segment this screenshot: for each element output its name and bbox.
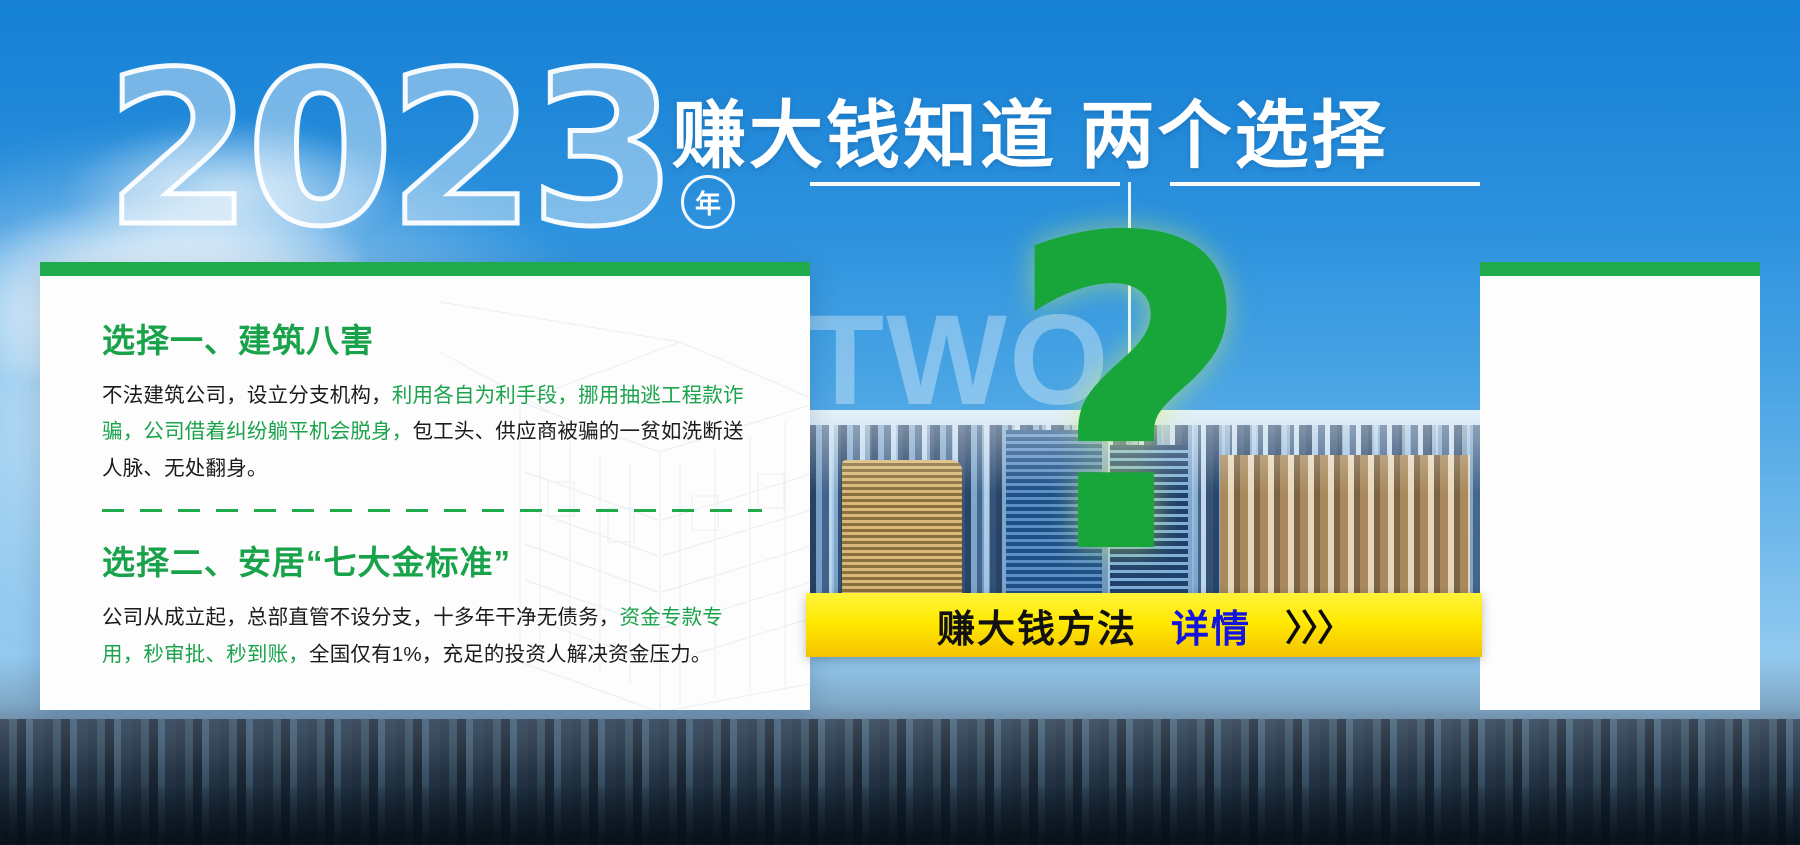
section-2-heading: 选择二、安居“七大金标准” <box>102 536 762 584</box>
cta-link-label[interactable]: 详情 <box>1171 598 1251 653</box>
year-number: 2023 <box>105 52 671 247</box>
cta-button[interactable]: 赚大钱方法 详情 〉〉〉 <box>806 593 1482 657</box>
question-mark-icon: ? <box>1005 206 1254 593</box>
cta-main-label: 赚大钱方法 <box>937 598 1137 653</box>
section-divider <box>102 509 762 512</box>
promo-banner: 2023 年 赚大钱知道 两个选择 TWO CHOICES ? <box>0 0 1800 845</box>
section-1-body: 不法建筑公司，设立分支机构，利用各自为利手段，挪用抽逃工程款诈骗，公司借着纠纷躺… <box>102 378 762 487</box>
section-1-text-a: 不法建筑公司，设立分支机构， <box>102 384 392 407</box>
section-2-body: 公司从成立起，总部直管不设分支，十多年干净无债务，资金专款专用，秒审批、秒到账，… <box>102 600 762 673</box>
right-panel-green-bar <box>1480 262 1760 276</box>
year-suffix-badge: 年 <box>681 175 735 229</box>
section-1-heading: 选择一、建筑八害 <box>102 314 762 362</box>
section-2-text-a: 公司从成立起，总部直管不设分支，十多年干净无债务， <box>102 606 620 629</box>
right-white-panel <box>1480 262 1760 710</box>
chevron-right-icon: 〉〉〉 <box>1285 599 1351 651</box>
section-2-text-c: 全国仅有1%，充足的投资人解决资金压力。 <box>309 643 712 666</box>
water-reflection <box>0 787 1800 845</box>
year-2023: 2023 年 <box>105 52 735 247</box>
content-card: 选择一、建筑八害 不法建筑公司，设立分支机构，利用各自为利手段，挪用抽逃工程款诈… <box>40 262 810 710</box>
